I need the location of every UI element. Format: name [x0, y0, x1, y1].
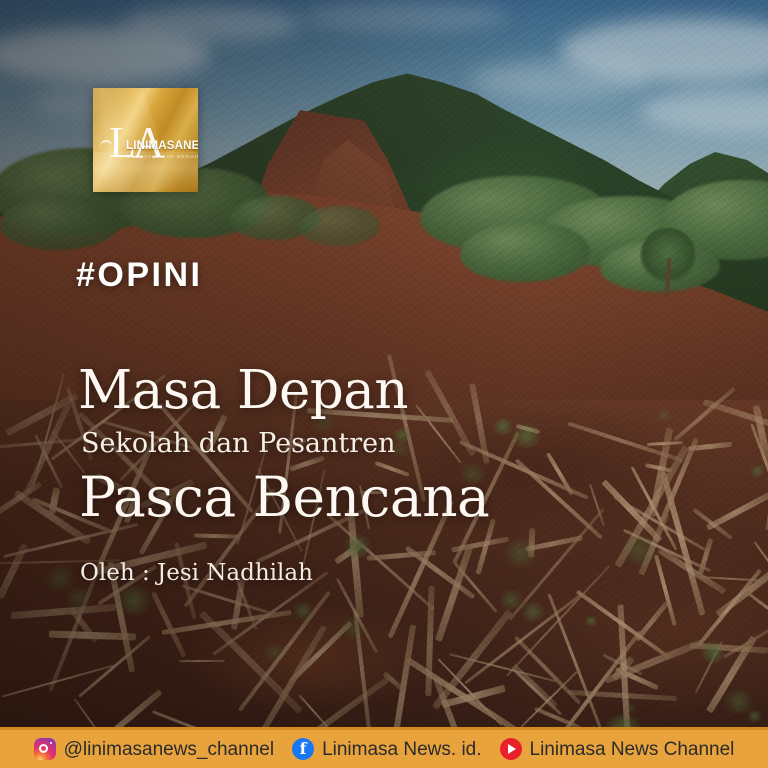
headline-line-1: Masa Depan [78, 364, 408, 417]
foliage-speck [112, 586, 154, 615]
headline-line-2: Pasca Bencana [79, 470, 489, 525]
poster-canvas: LA LINIMASANEWS.ID MEMBACA ARAH MENUJU P… [0, 0, 768, 768]
logo-tagline: MEMBACA ARAH MENUJU PERUBAHAN [127, 154, 198, 159]
foliage-speck [262, 644, 286, 661]
author-byline: Oleh : Jesi Nadhilah [80, 562, 313, 585]
social-item-youtube[interactable]: Linimasa News Channel [491, 738, 744, 760]
cloud-shape [120, 6, 300, 42]
cloud-shape [470, 60, 650, 100]
foliage-speck [509, 424, 544, 448]
debris-stick [179, 659, 225, 661]
foliage-speck [337, 617, 369, 639]
foliage-speck [501, 539, 541, 567]
debris-stick [194, 533, 239, 538]
youtube-icon [500, 738, 522, 760]
facebook-icon: f [292, 738, 314, 760]
cloud-shape [640, 88, 768, 134]
headline-subtitle: Sekolah dan Pesantren [81, 430, 396, 457]
vegetation-clump [460, 222, 590, 282]
foliage-speck [519, 602, 547, 621]
facebook-page-label: Linimasa News. id. [322, 740, 481, 759]
brand-logo: LA LINIMASANEWS.ID MEMBACA ARAH MENUJU P… [93, 88, 198, 192]
foliage-speck [584, 616, 598, 626]
instagram-handle-label: @linimasanews_channel [64, 740, 274, 759]
logo-wordmark: LINIMASANEWS.ID [126, 140, 198, 152]
vegetation-clump [0, 196, 120, 250]
foliage-speck [625, 704, 637, 713]
foliage-speck [746, 710, 763, 722]
social-media-bar: @linimasanews_channel f Linimasa News. i… [0, 727, 768, 768]
foliage-speck [698, 642, 728, 663]
youtube-channel-label: Linimasa News Channel [530, 740, 735, 759]
social-item-instagram[interactable]: @linimasanews_channel [25, 738, 283, 760]
foliage-speck [63, 587, 94, 609]
vegetation-clump [300, 206, 380, 246]
social-item-facebook[interactable]: f Linimasa News. id. [283, 738, 490, 760]
foliage-speck [341, 535, 374, 558]
category-hashtag: #OPINI [76, 258, 202, 292]
cloud-shape [300, 2, 510, 32]
instagram-icon [34, 738, 56, 760]
